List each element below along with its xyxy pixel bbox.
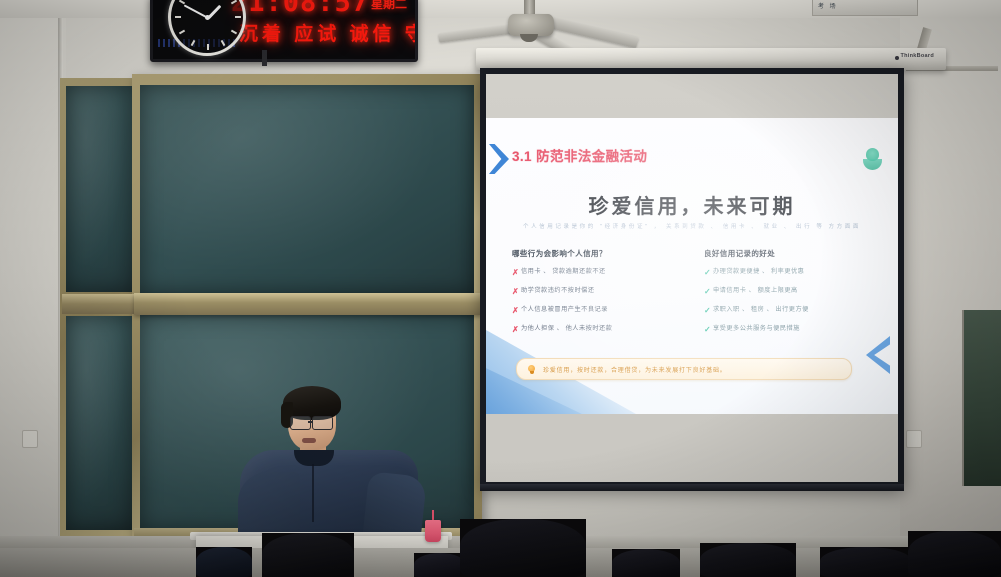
glasses-bridge: [308, 421, 313, 423]
blackboard-panel-upper: [140, 85, 474, 293]
cross-icon: ✗: [512, 307, 521, 315]
student-head: [262, 533, 354, 577]
clock-tick: [235, 16, 241, 18]
presentation-slide: 3.1 防范非法金融活动 珍爱信用，未来可期 个人信用记录是你的 "经济身份证"…: [486, 118, 898, 414]
glasses-left-lens-icon: [290, 416, 311, 430]
student-head: [196, 547, 252, 577]
leaf-logo-icon: [863, 148, 882, 170]
list-item-text: 享受更多公共服务与便民措施: [713, 326, 800, 333]
student-hair: [820, 547, 912, 577]
slide-main-heading: 珍爱信用，未来可期: [486, 190, 898, 219]
led-board-mount: [262, 50, 267, 66]
list-item-text: 为他人担保 、 他人未按时还款: [521, 326, 612, 333]
student-hair: [612, 549, 680, 577]
list-item: ✗ 助学贷款违约不按时偿还: [512, 288, 690, 296]
list-item: ✓ 求职入职 、 租房 、 出行更方便: [704, 307, 882, 315]
list-item-text: 求职入职 、 租房 、 出行更方便: [713, 307, 809, 314]
student-head: [414, 553, 466, 577]
exam-room-sign-label: 考 场: [818, 1, 838, 10]
list-item: ✓ 享受更多公共服务与便民措施: [704, 326, 882, 334]
clock-tick: [221, 40, 226, 46]
projection-screen-bottom-bar: [480, 484, 904, 491]
student-head: [820, 547, 912, 577]
clock-hour-hand: [207, 5, 221, 19]
check-icon: ✓: [704, 326, 713, 334]
student-head: [700, 543, 796, 577]
wall-socket-left: [22, 430, 38, 448]
lightbulb-icon: [527, 365, 536, 374]
student-hair: [262, 533, 354, 577]
cross-icon: ✗: [512, 288, 521, 296]
left-column-header: 哪些行为会影响个人信用？: [512, 248, 690, 259]
check-icon: ✓: [704, 307, 713, 315]
student-head: [612, 549, 680, 577]
slide-right-column: 良好信用记录的好处 ✓ 办理贷款更便捷 、 利率更优惠 ✓ 申请信用卡 、 额度…: [704, 248, 882, 345]
cross-icon: ✗: [512, 269, 521, 277]
led-time-display: 21:08:57: [231, 0, 369, 18]
classroom-photo: 21:08:57 星期二 沉着 应试 诚信 守纪 考 场: [0, 0, 1001, 577]
led-weekday-display: 星期二: [371, 0, 407, 12]
glasses-right-lens-icon: [312, 416, 333, 430]
list-item: ✗ 个人信息被冒用产生不良记录: [512, 307, 690, 315]
list-item: ✗ 信用卡 、 贷款逾期还款不还: [512, 269, 690, 277]
list-item: ✓ 办理贷款更便捷 、 利率更优惠: [704, 269, 882, 277]
wall-socket-right: [906, 430, 922, 448]
chevron-right-icon: [489, 144, 509, 174]
list-item-text: 信用卡 、 贷款逾期还款不还: [521, 269, 606, 276]
clock-tick: [179, 30, 185, 35]
student-hair: [908, 531, 1001, 577]
list-item: ✗ 为他人担保 、 他人未按时还款: [512, 326, 690, 334]
student-head: [908, 531, 1001, 577]
clock-tick: [207, 44, 209, 50]
teacher-jacket-zipper: [312, 464, 314, 522]
screen-brand-label: ThinkBoard: [900, 53, 934, 59]
teacher-mouth: [302, 438, 316, 443]
list-item-text: 个人信息被冒用产生不良记录: [521, 307, 608, 314]
clock-tick: [191, 40, 196, 46]
list-item-text: 办理贷款更便捷 、 利率更优惠: [713, 269, 804, 276]
right-wall: [900, 0, 1001, 577]
list-item: ✓ 申请信用卡 、 额度上限更高: [704, 288, 882, 296]
slide-subtitle: 个人信用记录是你的 "经济身份证" ， 关系到贷款 、 信用卡 、 就业 、 出…: [486, 222, 898, 230]
list-item-text: 申请信用卡 、 额度上限更高: [713, 288, 798, 295]
student-hair: [196, 547, 252, 577]
slide-left-column: 哪些行为会影响个人信用？ ✗ 信用卡 、 贷款逾期还款不还 ✗ 助学贷款违约不按…: [512, 248, 690, 345]
slide-callout-bar: 珍爱信用，按时还款，合理借贷，为未来发展打下良好基础。: [516, 358, 852, 380]
right-column-header: 良好信用记录的好处: [704, 248, 882, 259]
clock-tick: [175, 16, 181, 18]
fan-motor-housing: [508, 14, 554, 36]
chalk-rail-left: [62, 294, 136, 314]
student-hair: [460, 519, 586, 577]
student-hair: [414, 553, 466, 577]
cross-icon: ✗: [512, 326, 521, 334]
blackboard-panel-left-lower: [66, 316, 132, 530]
student-head: [460, 519, 586, 577]
leaf-bottom-shape: [863, 159, 882, 170]
slide-section-title: 3.1 防范非法金融活动: [512, 145, 647, 165]
check-icon: ✓: [704, 269, 713, 277]
blackboard-panel-left-upper: [66, 86, 132, 292]
drinking-cup: [425, 520, 441, 542]
side-cabinet: [962, 310, 1001, 486]
clock-tick: [231, 30, 237, 35]
clock-tick: [231, 0, 237, 4]
bulb-base: [530, 371, 534, 374]
callout-text: 珍爱信用，按时还款，合理借贷，为未来发展打下良好基础。: [543, 365, 727, 374]
check-icon: ✓: [704, 288, 713, 296]
projection-screen-housing: ThinkBoard: [476, 48, 946, 70]
clock-center-pin: [205, 15, 210, 20]
brand-dot-icon: [895, 56, 899, 60]
led-motto-text: 沉着 应试 诚信 守纪: [239, 19, 418, 46]
list-item-text: 助学贷款违约不按时偿还: [521, 288, 595, 295]
left-wall: [0, 0, 66, 560]
student-hair: [700, 543, 796, 577]
chalk-rail-middle: [134, 293, 482, 315]
fan-cap: [520, 34, 538, 42]
